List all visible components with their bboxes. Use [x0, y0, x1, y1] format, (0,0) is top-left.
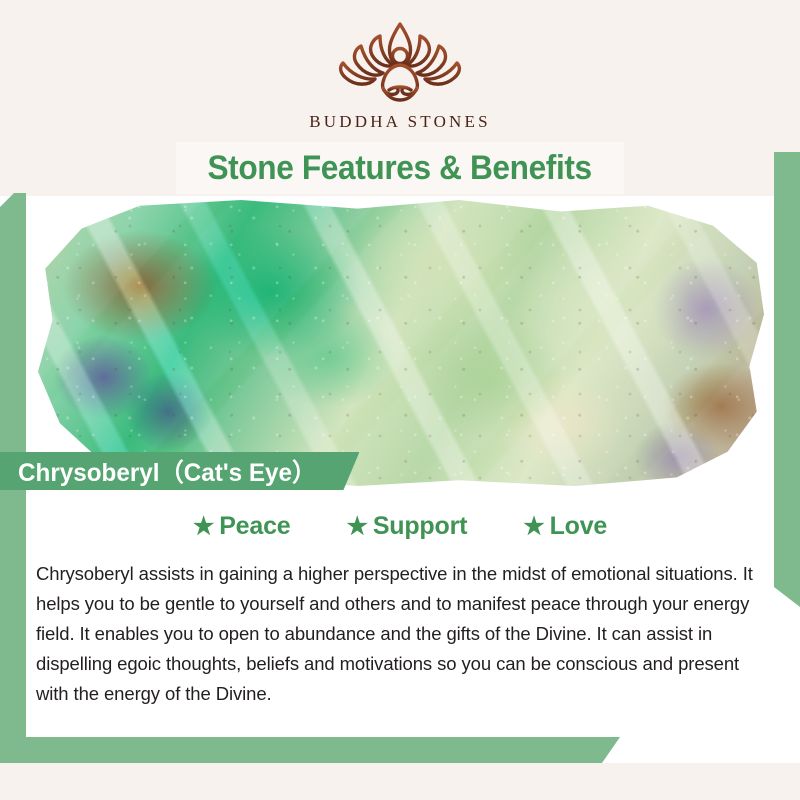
page-title: Stone Features & Benefits	[208, 151, 592, 185]
stone-name-label: Chrysoberyl（Cat's Eye）	[18, 453, 316, 489]
product-info-poster: BUDDHA STONES Stone Features & Benefits …	[0, 0, 800, 800]
stone-photo-area	[0, 196, 800, 486]
stone-name-banner: Chrysoberyl（Cat's Eye）	[0, 452, 359, 490]
stone-grain-overlay	[38, 200, 764, 486]
frame-border-right	[774, 152, 800, 607]
brand-logo: BUDDHA STONES	[0, 16, 800, 132]
keyword-item-peace: ★ Peace	[193, 512, 291, 541]
star-icon: ★	[346, 515, 367, 539]
star-icon: ★	[523, 515, 544, 539]
keyword-item-support: ★ Support	[346, 512, 467, 541]
keyword-item-love: ★ Love	[523, 512, 607, 541]
keyword-list: ★ Peace ★ Support ★ Love	[26, 512, 774, 541]
chrysoberyl-stone-image	[38, 200, 764, 486]
brand-name: BUDDHA STONES	[0, 112, 800, 132]
keyword-label: Support	[373, 512, 467, 541]
bottom-background-strip	[0, 763, 800, 800]
content-panel: ★ Peace ★ Support ★ Love Chrysoberyl ass…	[26, 490, 774, 737]
star-icon: ★	[193, 515, 214, 539]
keyword-label: Love	[550, 512, 608, 541]
lotus-meditation-figure-icon	[325, 16, 475, 108]
title-banner: Stone Features & Benefits	[176, 142, 624, 194]
frame-border-bottom	[0, 737, 620, 763]
stone-description: Chrysoberyl assists in gaining a higher …	[36, 559, 764, 709]
keyword-label: Peace	[219, 512, 290, 541]
